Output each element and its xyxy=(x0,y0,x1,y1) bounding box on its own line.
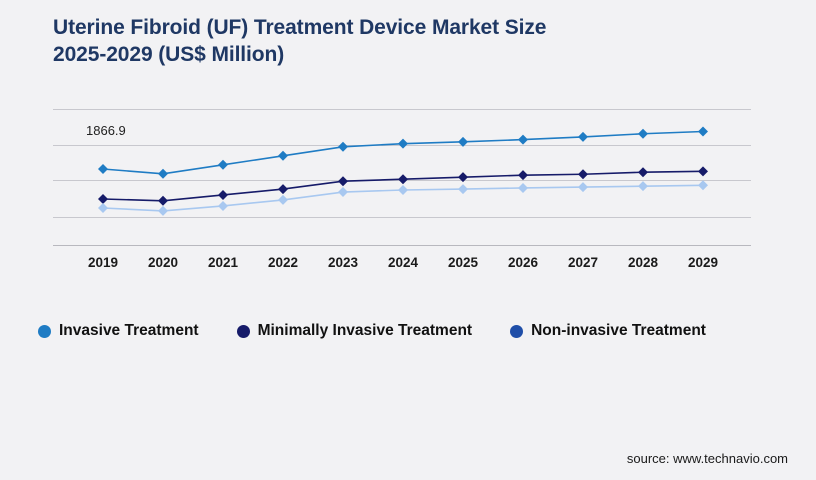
series-marker[interactable] xyxy=(698,127,708,137)
series-marker[interactable] xyxy=(218,201,228,211)
x-axis-tick-labels: 2019202020212022202320242025202620272028… xyxy=(53,255,751,275)
series-line-1 xyxy=(103,132,703,174)
series-lines-layer xyxy=(53,100,751,250)
series-marker[interactable] xyxy=(458,137,468,147)
legend-item-1[interactable]: Invasive Treatment xyxy=(38,322,199,340)
x-axis-tick-label: 2027 xyxy=(568,255,598,270)
legend-item-label: Non-invasive Treatment xyxy=(531,322,706,340)
series-marker[interactable] xyxy=(578,132,588,142)
series-marker[interactable] xyxy=(278,151,288,161)
x-axis-tick-label: 2028 xyxy=(628,255,658,270)
series-marker[interactable] xyxy=(98,203,108,213)
series-marker[interactable] xyxy=(458,172,468,182)
x-axis-tick-label: 2019 xyxy=(88,255,118,270)
legend-item-label: Invasive Treatment xyxy=(59,322,199,340)
series-marker[interactable] xyxy=(458,184,468,194)
x-axis-tick-label: 2029 xyxy=(688,255,718,270)
series-marker[interactable] xyxy=(578,182,588,192)
series-marker[interactable] xyxy=(578,169,588,179)
circle-marker-icon xyxy=(237,325,250,338)
series-marker[interactable] xyxy=(638,181,648,191)
series-marker[interactable] xyxy=(98,194,108,204)
series-marker[interactable] xyxy=(638,129,648,139)
left-margin-rail xyxy=(0,0,22,480)
circle-marker-icon xyxy=(510,325,523,338)
series-marker[interactable] xyxy=(278,184,288,194)
x-axis-tick-label: 2026 xyxy=(508,255,538,270)
series-marker[interactable] xyxy=(398,139,408,149)
x-axis-tick-label: 2021 xyxy=(208,255,238,270)
series-marker[interactable] xyxy=(218,160,228,170)
series-marker[interactable] xyxy=(338,187,348,197)
data-point-label: 1866.9 xyxy=(86,123,126,138)
legend-item-3[interactable]: Non-invasive Treatment xyxy=(510,322,706,340)
series-marker[interactable] xyxy=(158,206,168,216)
series-marker[interactable] xyxy=(158,169,168,179)
series-marker[interactable] xyxy=(338,142,348,152)
series-marker[interactable] xyxy=(278,195,288,205)
series-marker[interactable] xyxy=(338,176,348,186)
source-attribution: source: www.technavio.com xyxy=(627,451,788,466)
x-axis-tick-label: 2025 xyxy=(448,255,478,270)
series-marker[interactable] xyxy=(638,167,648,177)
circle-marker-icon xyxy=(38,325,51,338)
legend-item-label: Minimally Invasive Treatment xyxy=(258,322,473,340)
x-axis-tick-label: 2020 xyxy=(148,255,178,270)
x-axis-tick-label: 2023 xyxy=(328,255,358,270)
series-marker[interactable] xyxy=(518,135,528,145)
series-marker[interactable] xyxy=(98,164,108,174)
series-marker[interactable] xyxy=(158,196,168,206)
series-marker[interactable] xyxy=(398,185,408,195)
x-axis-tick-label: 2024 xyxy=(388,255,418,270)
series-marker[interactable] xyxy=(518,183,528,193)
legend-item-2[interactable]: Minimally Invasive Treatment xyxy=(237,322,473,340)
series-marker[interactable] xyxy=(518,170,528,180)
page-title: Uterine Fibroid (UF) Treatment Device Ma… xyxy=(53,14,753,68)
chart-legend: Invasive TreatmentMinimally Invasive Tre… xyxy=(38,322,744,340)
series-marker[interactable] xyxy=(698,166,708,176)
x-axis-tick-label: 2022 xyxy=(268,255,298,270)
series-marker[interactable] xyxy=(218,190,228,200)
series-marker[interactable] xyxy=(698,180,708,190)
series-marker[interactable] xyxy=(398,174,408,184)
